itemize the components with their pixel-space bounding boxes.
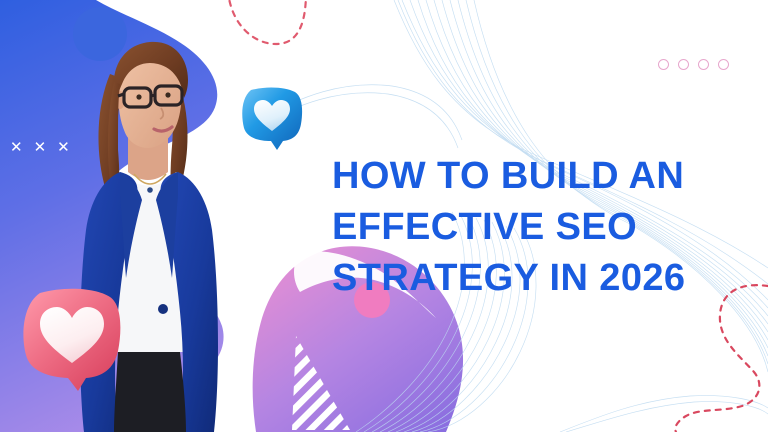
headline-line-2: EFFECTIVE SEO — [332, 202, 732, 253]
ring-dot-icon — [658, 59, 669, 70]
necklace-pendant — [147, 187, 153, 193]
page-title: HOW TO BUILD AN EFFECTIVE SEO STRATEGY I… — [332, 151, 732, 304]
blue-heart-reaction-icon — [237, 82, 307, 152]
headline-line-1: HOW TO BUILD AN — [332, 151, 732, 202]
blazer-button — [158, 304, 168, 314]
ring-dot-icon — [698, 59, 709, 70]
pink-heart-reaction-icon — [16, 281, 128, 393]
x-mark-icon: ✕ — [57, 140, 70, 155]
eye-left — [136, 94, 141, 99]
x-mark-icon: ✕ — [10, 140, 23, 155]
x-mark-icon: ✕ — [34, 140, 47, 155]
headline-line-3: STRATEGY IN 2026 — [332, 253, 732, 304]
x-marks-group: ✕ ✕ ✕ — [10, 140, 70, 155]
ring-dot-icon — [718, 59, 729, 70]
dashed-curve-right — [675, 285, 768, 432]
pink-ring-dots — [658, 59, 729, 70]
eye-right — [165, 92, 170, 97]
ring-dot-icon — [678, 59, 689, 70]
blog-header-banner: ✕ ✕ ✕ HOW TO BUILD AN EFFECTIVE SEO STRA… — [0, 0, 768, 432]
